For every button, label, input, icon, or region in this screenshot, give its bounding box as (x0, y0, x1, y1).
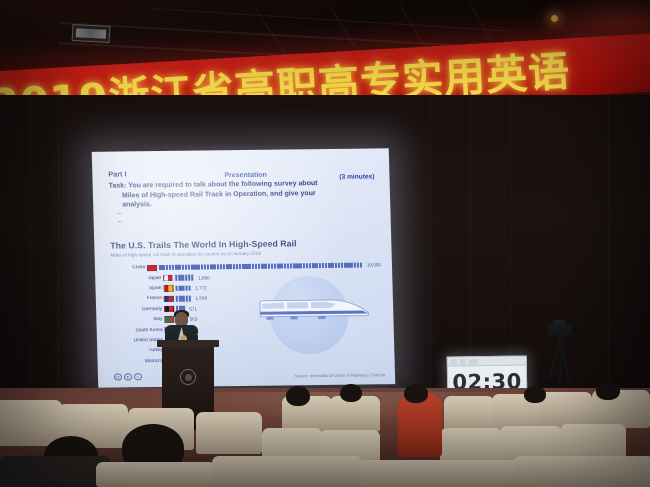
bar-tick (232, 264, 235, 270)
timer-chip (451, 359, 457, 364)
chart-value-label: 19,000 (367, 263, 381, 268)
chart-bar (175, 285, 190, 291)
bar-tick (175, 265, 178, 271)
chart-value-label: 571 (189, 306, 197, 311)
bar-tick (280, 263, 283, 269)
bar-tick (252, 264, 255, 270)
bar-tick (328, 263, 331, 269)
part-label: Part I (108, 169, 127, 178)
bar-tick (318, 263, 321, 269)
bar-tick (290, 263, 293, 269)
by-icon: ● (124, 373, 132, 381)
bar-tick (309, 263, 312, 269)
bar-tick (312, 263, 315, 269)
country-flag-icon (164, 316, 174, 323)
chart-row-label: Japan (111, 276, 161, 282)
bar-tick (162, 265, 165, 271)
bar-tick (194, 264, 197, 270)
timer-chip (469, 359, 478, 364)
bar-tick (293, 263, 296, 269)
stage-light-fixture (72, 24, 111, 43)
bar-tick (185, 285, 188, 291)
bar-tick (334, 263, 337, 269)
bar-tick (191, 265, 194, 271)
bar-tick (354, 263, 357, 269)
bar-tick (165, 265, 168, 271)
slide-footer: cc ● = Source: International Union of Ra… (114, 370, 385, 381)
bar-tick (245, 264, 248, 270)
bar-tick (283, 263, 286, 269)
bar-tick (191, 275, 194, 281)
chart-bar (176, 296, 191, 302)
seat-foreground (514, 456, 650, 487)
country-flag-icon (164, 306, 174, 313)
bar-tick (315, 263, 318, 269)
chart-value-label: 1,772 (195, 285, 207, 290)
bar-tick (360, 262, 363, 268)
bar-tick (169, 265, 172, 271)
bar-tick (176, 296, 179, 302)
seat-foreground (212, 456, 362, 487)
section-label: Presentation (224, 172, 267, 180)
chart-bar (175, 275, 193, 281)
bar-tick (239, 264, 242, 270)
bar-tick (188, 265, 191, 271)
bar-tick (181, 265, 184, 271)
bar-tick (242, 264, 245, 270)
chart-bar (159, 262, 362, 270)
bar-tick (357, 262, 360, 268)
seat (540, 392, 592, 428)
bar-tick (189, 296, 192, 302)
chart-row-label: South Korea (113, 328, 163, 334)
bar-tick (255, 264, 258, 270)
podium-emblem (180, 369, 196, 385)
bar-tick (267, 264, 270, 270)
chart-title: The U.S. Trails The World In High-Speed … (110, 237, 380, 250)
bar-tick (179, 285, 182, 291)
seat-foreground (96, 462, 216, 487)
chart-source: Source: International Union of Railways … (294, 372, 385, 378)
chart: The U.S. Trails The World In High-Speed … (110, 237, 384, 367)
bar-tick (261, 264, 264, 270)
bar-tick (178, 265, 181, 271)
bar-tick (197, 264, 200, 270)
bar-tick (188, 285, 191, 291)
chart-row-label: Turkey (113, 348, 163, 354)
chart-rows: China19,000Japan1,890Spain1,772France1,5… (111, 260, 384, 367)
country-flag-icon (164, 296, 174, 303)
nd-icon: = (134, 373, 142, 381)
chart-row-label: Spain (111, 286, 161, 292)
seat (0, 400, 62, 446)
bar-tick (210, 264, 213, 270)
bar-tick (306, 263, 309, 269)
bar-tick (331, 263, 334, 269)
bar-tick (207, 264, 210, 270)
bar-tick (236, 264, 239, 270)
bar-tick (229, 264, 232, 270)
bar-tick (296, 263, 299, 269)
bar-tick (185, 275, 188, 281)
bar-tick (220, 264, 223, 270)
bar-tick (274, 263, 277, 269)
bar-tick (350, 263, 353, 269)
bar-tick (287, 263, 290, 269)
bar-tick (182, 296, 185, 302)
bar-tick (258, 264, 261, 270)
seat (444, 396, 494, 432)
chart-value-label: 1,549 (195, 296, 207, 301)
bar-tick (299, 263, 302, 269)
duration-label: (3 minutes) (339, 173, 374, 180)
bar-tick (213, 264, 216, 270)
bar-tick (185, 265, 188, 271)
bar-tick (188, 275, 191, 281)
chart-row-label: United States (113, 338, 163, 344)
bar-tick (182, 285, 185, 291)
bar-tick (341, 263, 344, 269)
timer-chip (460, 359, 466, 364)
chart-value-label: 563 (190, 317, 198, 322)
chart-value-label: 1,890 (198, 275, 210, 280)
chart-row-label: China (111, 265, 145, 270)
camera-lens-icon (571, 327, 579, 333)
audience-head (524, 386, 546, 403)
bar-tick (248, 264, 251, 270)
bar-tick (175, 285, 178, 291)
chart-row-label: Morocco (113, 359, 163, 365)
country-flag-icon (147, 265, 157, 272)
country-flag-icon (163, 285, 173, 292)
bar-tick (271, 264, 274, 270)
slide-content: Part I Presentation (3 minutes) Task: Yo… (92, 148, 396, 388)
audience-head (286, 386, 310, 406)
bar-tick (172, 265, 175, 271)
bar-tick (159, 265, 162, 271)
bar-tick (182, 275, 185, 281)
cc-icon: cc (114, 373, 122, 381)
chart-row-label: France (112, 296, 162, 302)
seat (196, 412, 262, 454)
bar-tick (303, 263, 306, 269)
chart-row-label: Germany (112, 307, 162, 313)
bar-tick (264, 264, 267, 270)
license-icons: cc ● = (114, 373, 142, 381)
bar-tick (185, 296, 188, 302)
bar-tick (344, 263, 347, 269)
bar-tick (201, 264, 204, 270)
podium-top (157, 340, 219, 347)
bar-tick (347, 263, 350, 269)
country-flag-icon (163, 275, 173, 282)
bar-tick (277, 263, 280, 269)
audience-head (596, 382, 620, 400)
chart-row: Morocco116 (113, 353, 383, 367)
video-camera-handle (553, 320, 565, 325)
task-text: Task: You are required to talk about the… (109, 178, 380, 210)
bar-tick (179, 296, 182, 302)
seat-foreground (0, 456, 110, 487)
bar-tick (175, 275, 178, 281)
bar-tick (216, 264, 219, 270)
bar-tick (204, 264, 207, 270)
audience-head (404, 384, 428, 403)
bar-tick (226, 264, 229, 270)
seat-foreground (358, 460, 518, 487)
task-line-1: Task: You are required to talk about the… (109, 180, 318, 190)
audience-head (340, 384, 362, 402)
projection-screen: Part I Presentation (3 minutes) Task: Yo… (92, 148, 396, 388)
bar-tick (338, 263, 341, 269)
bar-tick (223, 264, 226, 270)
chart-subtitle: Miles of high-speed rail track in operat… (111, 249, 381, 257)
lighting-truss (150, 8, 509, 32)
bar-tick (325, 263, 328, 269)
chart-row-label: Italy (112, 317, 162, 323)
auditorium-scene: 2019浙江省高职高专实用英语 Part I Presentation (3 m… (0, 0, 650, 487)
bar-tick (178, 275, 181, 281)
bar-tick (322, 263, 325, 269)
